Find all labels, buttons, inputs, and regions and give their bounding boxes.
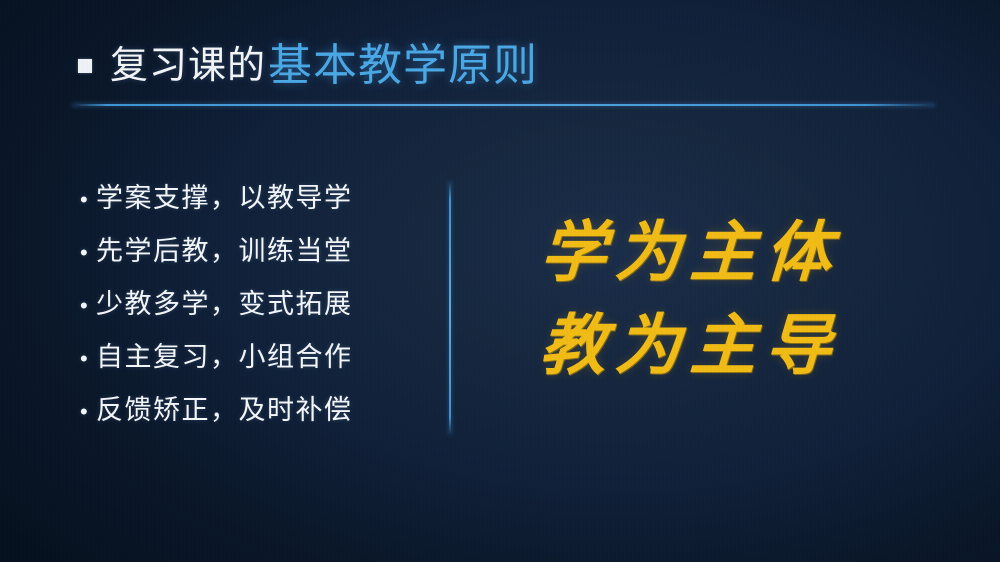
bullet-dot-icon: • [80,242,96,264]
motto-line: 教为主导 [538,299,943,392]
column-divider [449,181,451,435]
list-item-label: 学案支撑，以教导学 [96,176,410,215]
slide-title: 复习课的 基本教学原则 [78,44,538,88]
bullet-dot-icon: • [80,348,96,370]
list-item: • 反馈矫正，及时补偿 [80,388,410,441]
motto-line: 学为主体 [538,206,943,299]
principles-list: • 学案支撑，以教导学 • 先学后教，训练当堂 • 少教多学，变式拓展 • 自主… [80,176,410,441]
bullet-dot-icon: • [80,401,96,423]
motto-block: 学为主体 教为主导 [540,206,940,392]
list-item-label: 少教多学，变式拓展 [96,282,410,321]
list-item-label: 反馈矫正，及时补偿 [96,388,410,427]
list-item-label: 自主复习，小组合作 [96,335,410,374]
title-underline-divider [72,104,935,106]
square-bullet-icon [78,59,92,73]
title-accent-text: 基本教学原则 [268,44,538,88]
list-item: • 学案支撑，以教导学 [80,176,410,229]
bullet-dot-icon: • [80,295,96,317]
bullet-dot-icon: • [80,189,96,211]
list-item: • 少教多学，变式拓展 [80,282,410,335]
presentation-slide: 复习课的 基本教学原则 • 学案支撑，以教导学 • 先学后教，训练当堂 • 少教… [0,0,1000,562]
list-item-label: 先学后教，训练当堂 [96,229,410,268]
list-item: • 先学后教，训练当堂 [80,229,410,282]
title-prefix-text: 复习课的 [110,47,266,85]
list-item: • 自主复习，小组合作 [80,335,410,388]
